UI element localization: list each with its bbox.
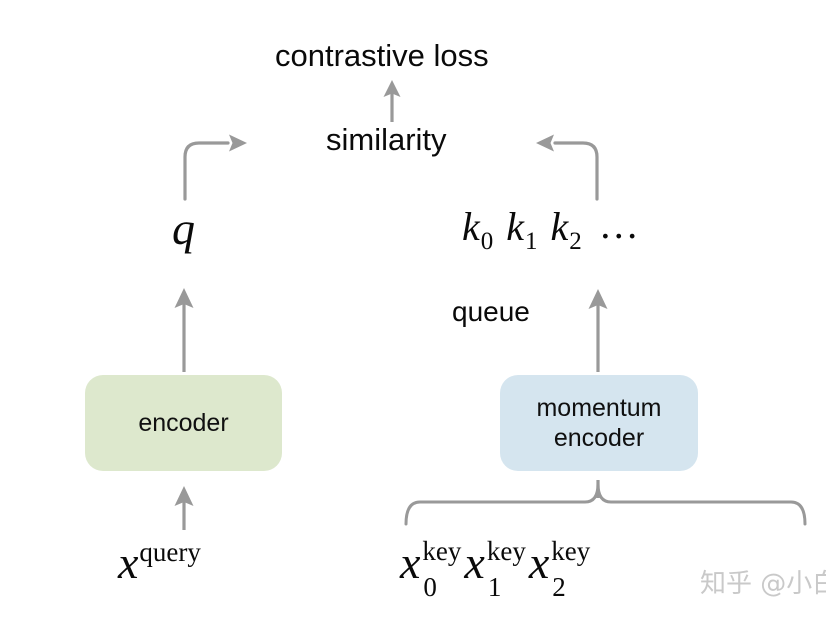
- momentum-encoder-label-line2: encoder: [554, 424, 644, 452]
- arrow-encoder-to-q: [175, 288, 194, 372]
- key-symbol-base: k: [462, 204, 480, 249]
- key-input-subscript: 2: [552, 574, 566, 601]
- key-input-symbol-0: xkey0: [400, 540, 420, 586]
- key-input-superscript: key: [551, 538, 590, 565]
- key-inputs-brace: [406, 484, 805, 524]
- queue-label: queue: [452, 298, 530, 326]
- watermark: 知乎 @小白: [700, 563, 826, 600]
- key-symbol-subscript: 0: [481, 228, 494, 255]
- query-representation-symbol: q: [172, 206, 195, 252]
- contrastive-loss-label: contrastive loss: [275, 40, 489, 71]
- key-symbol-k1: k1: [506, 207, 536, 247]
- query-input-symbol: xquery: [118, 540, 200, 586]
- key-symbols-ellipsis: …: [595, 205, 640, 245]
- key-input-symbol-2: xkey2: [529, 540, 549, 586]
- arrow-q-to-similarity: [185, 135, 247, 200]
- key-input-base: x: [464, 537, 484, 588]
- key-input-symbol-1: xkey1: [464, 540, 484, 586]
- key-input-subscript: 0: [423, 574, 437, 601]
- similarity-label: similarity: [326, 124, 447, 155]
- key-inputs-row: xkey0 xkey1 xkey2: [400, 540, 549, 586]
- query-input-base: x: [118, 537, 138, 588]
- key-symbol-subscript: 1: [525, 228, 538, 255]
- arrow-momentum-encoder-to-keys: [589, 289, 608, 372]
- key-symbol-subscript: 2: [569, 228, 582, 255]
- encoder-box-label: encoder: [138, 408, 228, 439]
- arrow-keys-to-similarity: [536, 135, 597, 200]
- key-symbol-base: k: [506, 204, 524, 249]
- key-input-superscript: key: [422, 538, 461, 565]
- key-symbol-k0: k0: [462, 207, 492, 247]
- key-input-superscript: key: [487, 538, 526, 565]
- key-symbol-k2: k2: [551, 207, 581, 247]
- encoder-box[interactable]: encoder: [85, 375, 282, 471]
- momentum-encoder-box[interactable]: momentumencoder: [500, 375, 698, 471]
- key-input-base: x: [400, 537, 420, 588]
- query-input-superscript: query: [139, 537, 200, 567]
- key-representations-row: k0 k1 k2 …: [462, 207, 640, 247]
- arrow-query-input-to-encoder: [175, 486, 194, 530]
- diagram-canvas: contrastive loss similarity q k0 k1 k2 ……: [0, 0, 826, 634]
- momentum-encoder-label-line1: momentum: [536, 394, 661, 422]
- key-input-base: x: [529, 537, 549, 588]
- arrow-similarity-to-loss: [384, 80, 401, 122]
- key-input-subscript: 1: [488, 574, 502, 601]
- momentum-encoder-box-label: momentumencoder: [536, 393, 661, 454]
- key-symbol-base: k: [551, 204, 569, 249]
